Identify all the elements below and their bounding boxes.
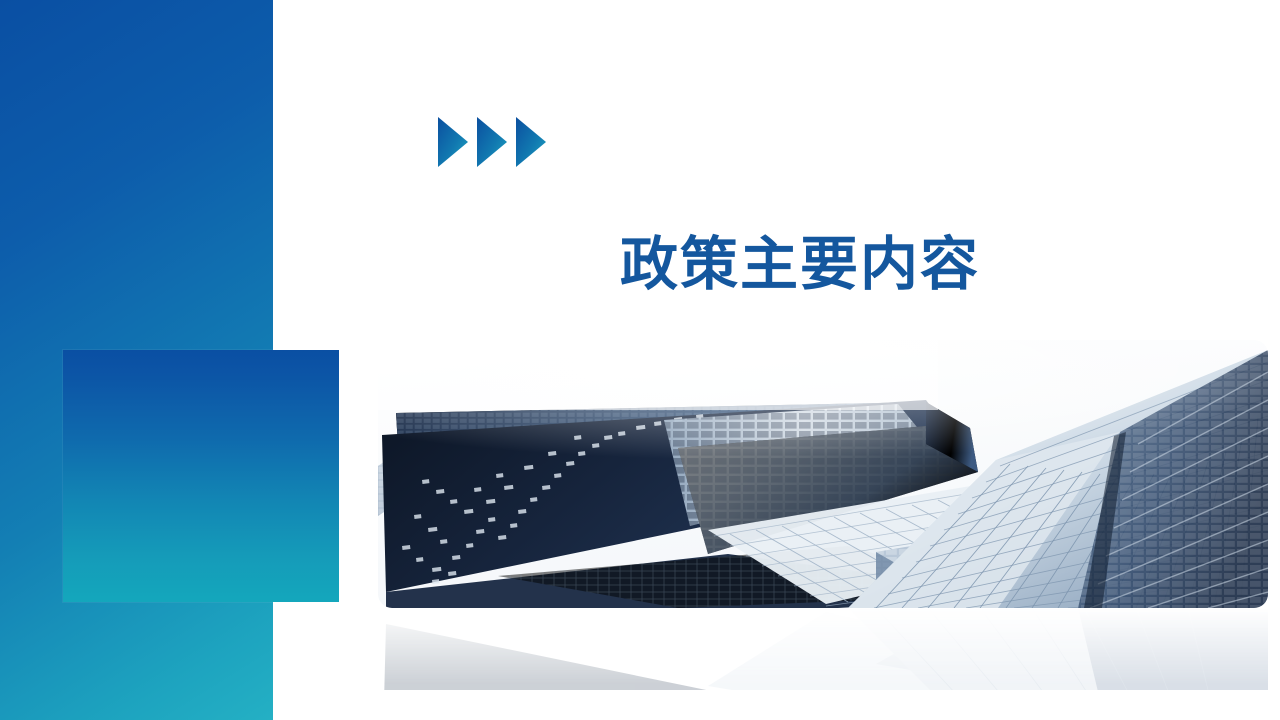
triple-chevron-arrows [438,117,568,169]
chevron-right-icon-2 [477,117,507,167]
hero-photo-block [378,340,1268,690]
accent-square [63,350,339,602]
chevron-right-icon-1 [438,117,468,167]
skyscrapers-reflection [378,608,1268,690]
slide-root: 政策主要内容 [0,0,1280,720]
skyscrapers-illustration [378,340,1268,608]
skyscrapers-photo [378,340,1268,608]
photo-reflection [378,608,1268,690]
slide-title: 政策主要内容 [620,234,980,295]
chevron-right-icon-3 [516,117,546,167]
